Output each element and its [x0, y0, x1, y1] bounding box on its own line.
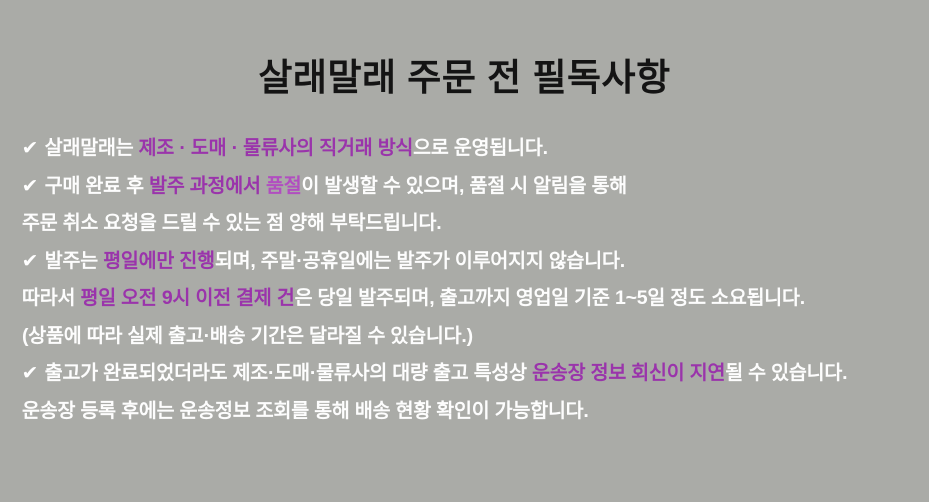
notice-text-segment-white: 은 당일 발주되며, 출고까지 영업일 기준 1~5일 정도 소요됩니다.	[295, 287, 805, 309]
notice-line: ✔발주는 평일에만 진행되며, 주말·공휴일에는 발주가 이루어지지 않습니다.	[22, 252, 922, 290]
notice-list: ✔살래말래는 제조 · 도매 · 물류사의 직거래 방식으로 운영됩니다.✔구매…	[22, 139, 922, 439]
check-icon: ✔	[22, 252, 39, 271]
notice-text-segment-white: 출고가 완료되었더라도 제조·도매·물류사의 대량 출고 특성상	[45, 362, 532, 384]
notice-text-segment-white: 으로 운영됩니다.	[413, 137, 548, 159]
notice-text-segment-white: 살래말래는	[45, 137, 139, 159]
notice-line-text: 구매 완료 후 발주 과정에서 품절이 발생할 수 있으며, 품절 시 알림을 …	[45, 177, 627, 197]
notice-line-text: 운송장 등록 후에는 운송정보 조회를 통해 배송 현황 확인이 가능합니다.	[22, 402, 589, 422]
notice-line: ✔출고가 완료되었더라도 제조·도매·물류사의 대량 출고 특성상 운송장 정보…	[22, 364, 922, 402]
notice-text-segment-white: 이 발생할 수 있으며, 품절 시 알림을 통해	[301, 175, 627, 197]
notice-text-segment-purple: 운송장 정보 회신이 지연	[532, 362, 725, 384]
notice-card: 살래말래 주문 전 필독사항 ✔살래말래는 제조 · 도매 · 물류사의 직거래…	[0, 0, 929, 502]
check-icon: ✔	[22, 364, 39, 383]
notice-line-text: 따라서 평일 오전 9시 이전 결제 건은 당일 발주되며, 출고까지 영업일 …	[22, 289, 805, 309]
notice-line-text: 발주는 평일에만 진행되며, 주말·공휴일에는 발주가 이루어지지 않습니다.	[45, 252, 625, 272]
notice-text-segment-purple: 제조 · 도매 · 물류사의 직거래 방식	[139, 137, 414, 159]
check-icon: ✔	[22, 139, 39, 158]
notice-text-segment-white: 주문 취소 요청을 드릴 수 있는 점 양해 부탁드립니다.	[22, 212, 442, 234]
page-title: 살래말래 주문 전 필독사항	[0, 55, 929, 101]
notice-line: 주문 취소 요청을 드릴 수 있는 점 양해 부탁드립니다.	[22, 214, 922, 252]
notice-text-segment-purple: 발주 과정에서	[149, 175, 266, 197]
notice-line-text: 출고가 완료되었더라도 제조·도매·물류사의 대량 출고 특성상 운송장 정보 …	[45, 364, 848, 384]
notice-line-text: 살래말래는 제조 · 도매 · 물류사의 직거래 방식으로 운영됩니다.	[45, 139, 548, 159]
notice-text-segment-purple: 평일에만 진행	[103, 250, 215, 272]
notice-text-segment-white: 될 수 있습니다.	[725, 362, 847, 384]
notice-line-text: 주문 취소 요청을 드릴 수 있는 점 양해 부탁드립니다.	[22, 214, 442, 234]
check-icon: ✔	[22, 177, 39, 196]
notice-line: ✔구매 완료 후 발주 과정에서 품절이 발생할 수 있으며, 품절 시 알림을…	[22, 177, 922, 215]
notice-line: 운송장 등록 후에는 운송정보 조회를 통해 배송 현황 확인이 가능합니다.	[22, 402, 922, 440]
notice-text-segment-white: (상품에 따라 실제 출고·배송 기간은 달라질 수 있습니다.)	[22, 325, 473, 347]
notice-text-segment-white: 되며, 주말·공휴일에는 발주가 이루어지지 않습니다.	[215, 250, 625, 272]
notice-line: 따라서 평일 오전 9시 이전 결제 건은 당일 발주되며, 출고까지 영업일 …	[22, 289, 922, 327]
notice-text-segment-white: 구매 완료 후	[45, 175, 149, 197]
notice-text-segment-pink: 품절	[266, 175, 301, 197]
notice-line-text: (상품에 따라 실제 출고·배송 기간은 달라질 수 있습니다.)	[22, 327, 473, 347]
notice-text-segment-white: 따라서	[22, 287, 80, 309]
notice-text-segment-white: 운송장 등록 후에는 운송정보 조회를 통해 배송 현황 확인이 가능합니다.	[22, 400, 589, 422]
notice-line: (상품에 따라 실제 출고·배송 기간은 달라질 수 있습니다.)	[22, 327, 922, 365]
notice-text-segment-white: 발주는	[45, 250, 103, 272]
notice-text-segment-purple: 평일 오전 9시 이전 결제 건	[80, 287, 294, 309]
notice-line: ✔살래말래는 제조 · 도매 · 물류사의 직거래 방식으로 운영됩니다.	[22, 139, 922, 177]
